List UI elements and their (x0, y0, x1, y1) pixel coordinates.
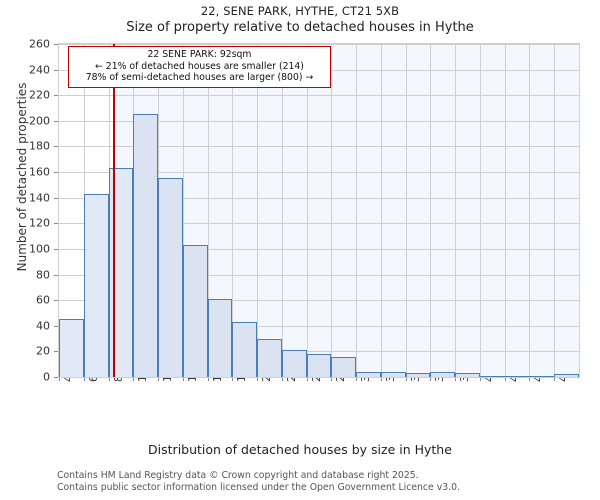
histogram-bar (406, 373, 431, 377)
histogram-bar (158, 178, 183, 377)
gridline-vertical (331, 44, 332, 377)
histogram-bar (381, 372, 406, 377)
y-axis-tick-label: 140 (4, 191, 50, 204)
histogram-bar (183, 245, 208, 377)
gridline-horizontal (59, 95, 579, 96)
y-axis-tick-label: 160 (4, 166, 50, 179)
y-axis-tick-label: 200 (4, 114, 50, 127)
histogram-bar (307, 354, 332, 377)
page-subtitle: Size of property relative to detached ho… (0, 20, 600, 35)
property-marker-line (113, 44, 115, 377)
histogram-bar (232, 322, 257, 377)
gridline-vertical (480, 44, 481, 377)
histogram-bar (109, 168, 134, 377)
footer-line-1: Contains HM Land Registry data © Crown c… (57, 470, 597, 482)
annotation-line-1: 22 SENE PARK: 92sqm (73, 49, 326, 61)
histogram-bar (430, 372, 455, 377)
histogram-bar (59, 319, 84, 377)
histogram-bar (529, 376, 554, 377)
annotation-line-3: 78% of semi-detached houses are larger (… (73, 72, 326, 84)
annotation-line-2: ← 21% of detached houses are smaller (21… (73, 61, 326, 73)
gridline-vertical (406, 44, 407, 377)
footer-line-2: Contains public sector information licen… (57, 482, 597, 494)
x-axis-title: Distribution of detached houses by size … (0, 442, 600, 457)
gridline-vertical (381, 44, 382, 377)
y-axis-tick-label: 0 (4, 371, 50, 384)
gridline-vertical (257, 44, 258, 377)
histogram-bar (455, 373, 480, 377)
y-axis-tick-label: 80 (4, 268, 50, 281)
chart-page: 22, SENE PARK, HYTHE, CT21 5XB Size of p… (0, 0, 600, 500)
gridline-vertical (554, 44, 555, 377)
histogram-bar (331, 357, 356, 377)
y-axis-tick-label: 60 (4, 294, 50, 307)
histogram-bar (505, 376, 530, 377)
y-axis-tick-label: 180 (4, 140, 50, 153)
page-title: 22, SENE PARK, HYTHE, CT21 5XB (0, 4, 600, 18)
annotation-box: 22 SENE PARK: 92sqm ← 21% of detached ho… (68, 46, 331, 88)
gridline-vertical (430, 44, 431, 377)
histogram-bar (133, 114, 158, 377)
plot-area (58, 43, 580, 378)
histogram-bar (208, 299, 233, 377)
histogram-bar (257, 339, 282, 377)
y-axis-tick-label: 40 (4, 319, 50, 332)
histogram-bar (554, 374, 579, 377)
gridline-vertical (356, 44, 357, 377)
y-axis-tick-label: 240 (4, 63, 50, 76)
histogram-bar (480, 376, 505, 377)
y-axis-tick-label: 120 (4, 217, 50, 230)
histogram-bar (356, 372, 381, 377)
y-axis-tick-label: 260 (4, 38, 50, 51)
y-axis-tick-label: 20 (4, 345, 50, 358)
y-axis-tick-label: 100 (4, 242, 50, 255)
y-axis-tick-label: 220 (4, 89, 50, 102)
gridline-vertical (282, 44, 283, 377)
gridline-vertical (307, 44, 308, 377)
gridline-vertical (455, 44, 456, 377)
gridline-horizontal (59, 44, 579, 45)
footer-attribution: Contains HM Land Registry data © Crown c… (57, 470, 597, 493)
histogram-bar (84, 194, 109, 377)
gridline-vertical (529, 44, 530, 377)
histogram-bar (282, 350, 307, 377)
gridline-vertical (505, 44, 506, 377)
